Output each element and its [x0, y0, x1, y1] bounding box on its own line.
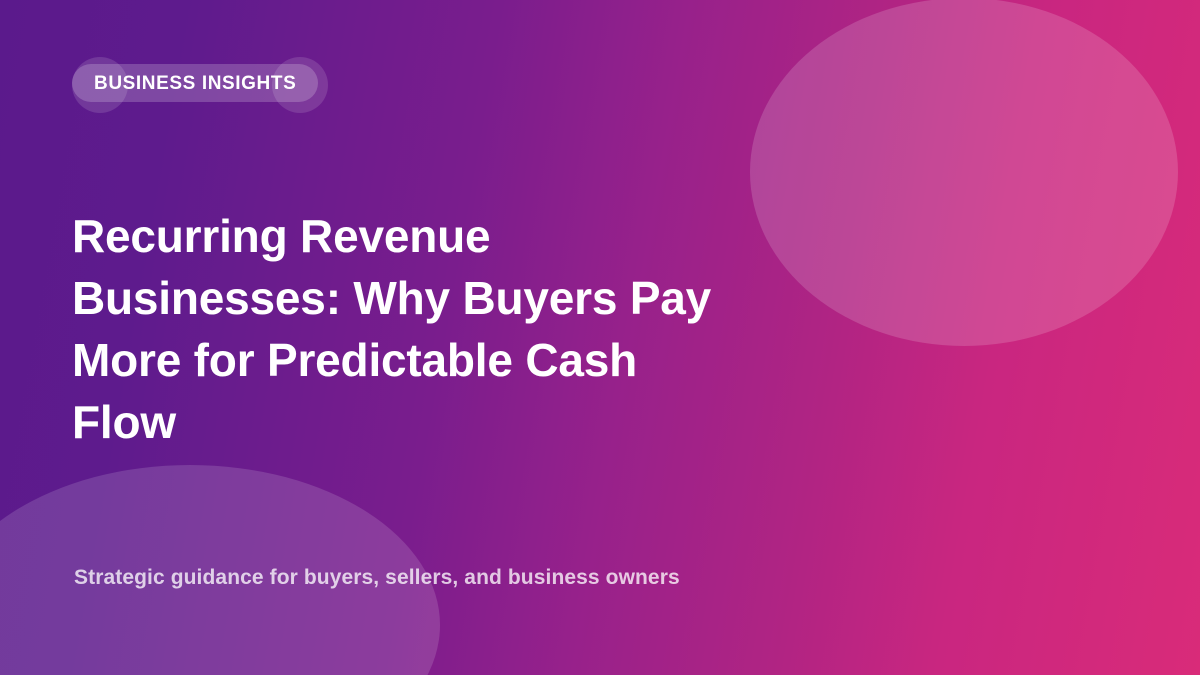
decorative-circle-top-right	[750, 0, 1178, 346]
category-badge[interactable]: BUSINESS INSIGHTS	[72, 64, 318, 102]
page-subtitle: Strategic guidance for buyers, sellers, …	[74, 564, 680, 592]
insight-banner: BUSINESS INSIGHTS Recurring Revenue Busi…	[0, 0, 1200, 675]
page-title: Recurring Revenue Businesses: Why Buyers…	[72, 205, 752, 453]
category-badge-label: BUSINESS INSIGHTS	[94, 74, 296, 93]
